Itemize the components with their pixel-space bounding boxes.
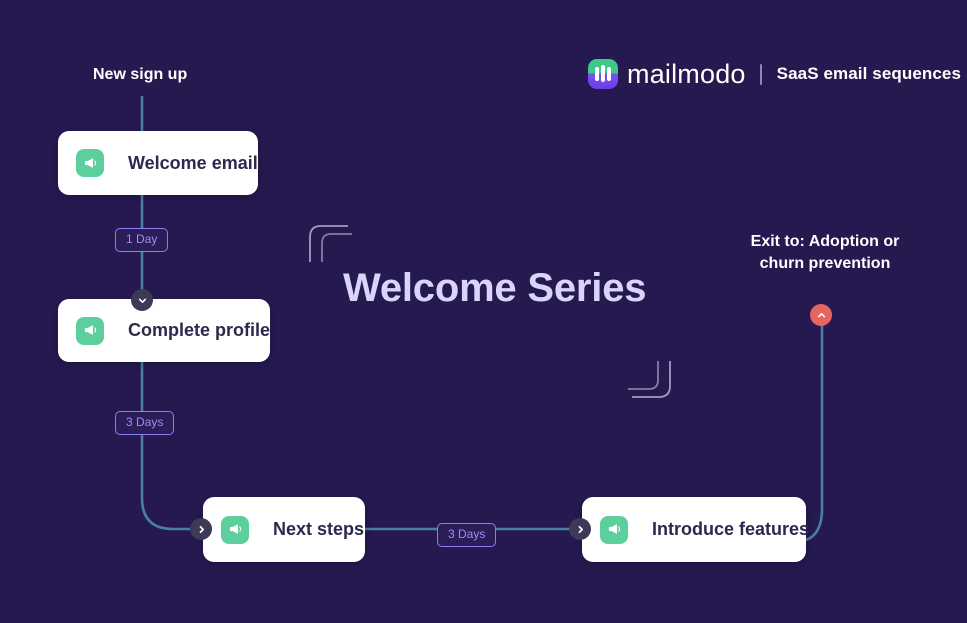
- brand-name: mailmodo: [627, 59, 746, 90]
- mailmodo-logo-icon: [588, 59, 618, 89]
- node-label: Welcome email: [128, 153, 258, 174]
- node-label: Introduce features: [652, 519, 809, 540]
- corner-bracket-icon-top-left: [310, 226, 352, 262]
- delay-badge[interactable]: 1 Day: [115, 228, 168, 252]
- node-label: Next steps: [273, 519, 364, 540]
- page-title: Welcome Series: [343, 266, 646, 311]
- entry-label: New sign up: [93, 64, 187, 86]
- brand-tagline: SaaS email sequences: [777, 64, 961, 84]
- connector-introduce-to-exit: [806, 318, 822, 540]
- exit-label: Exit to: Adoption or churn prevention: [735, 231, 915, 275]
- node-label: Complete profile: [128, 320, 270, 341]
- megaphone-icon: [600, 516, 628, 544]
- brand-separator: [760, 64, 762, 85]
- node-card-welcome-email[interactable]: Welcome email: [58, 131, 258, 195]
- chevron-up-icon[interactable]: [810, 304, 832, 326]
- node-card-complete-profile[interactable]: Complete profile: [58, 299, 270, 362]
- node-card-next-steps[interactable]: Next steps: [203, 497, 365, 562]
- node-card-introduce-features[interactable]: Introduce features: [582, 497, 806, 562]
- brand-header: mailmodo SaaS email sequences: [588, 58, 961, 90]
- delay-badge[interactable]: 3 Days: [115, 411, 174, 435]
- megaphone-icon: [221, 516, 249, 544]
- megaphone-icon: [76, 149, 104, 177]
- chevron-right-icon[interactable]: [190, 518, 212, 540]
- chevron-right-icon[interactable]: [569, 518, 591, 540]
- chevron-down-icon[interactable]: [131, 289, 153, 311]
- delay-badge[interactable]: 3 Days: [437, 523, 496, 547]
- megaphone-icon: [76, 317, 104, 345]
- connector-complete-to-nextsteps: [142, 362, 201, 529]
- corner-bracket-icon-bottom-right: [628, 361, 670, 397]
